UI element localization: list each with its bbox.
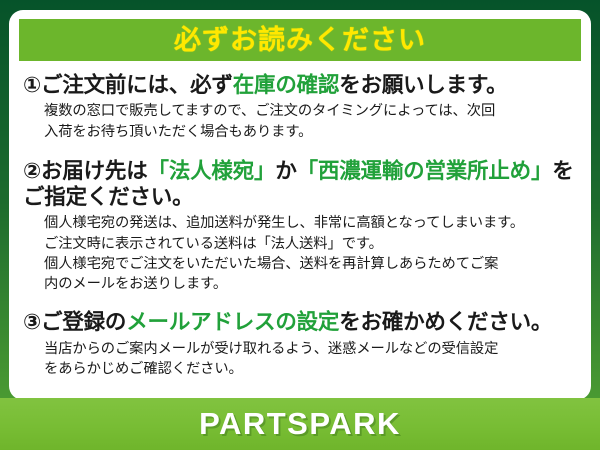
notice-item-2-marker: ② [23,159,41,183]
notice-item-3-body-line-1: 当店からのご案内メールが受け取れるよう、迷惑メールなどの受信設定 [44,339,577,359]
notice-item-2-heading-part-1: お届け先は [41,159,148,183]
notice-item-list: ①ご注文前には、必ず在庫の確認をお願いします。 複数の窓口で販売してますので、ご… [19,72,581,379]
notice-item-2-heading: ②お届け先は「法人様宛」か「西濃運輸の営業所止め」をご指定ください。 [23,158,577,210]
notice-item-2-heading-highlight-2: 「西濃運輸の営業所止め」 [297,159,553,183]
brand-name: PARTSPARK [199,406,401,442]
notice-title-bar: 必ずお読みください [19,19,581,61]
notice-item-1: ①ご注文前には、必ず在庫の確認をお願いします。 複数の窓口で販売してますので、ご… [23,72,577,142]
notice-item-3-body: 当店からのご案内メールが受け取れるよう、迷惑メールなどの受信設定 をあらかじめご… [23,339,577,380]
notice-item-1-heading-highlight: 在庫の確認 [233,73,340,97]
notice-item-2-body: 個人様宅宛の発送は、追加送料が発生し、非常に高額となってしまいます。 ご注文時に… [23,213,577,294]
page-title: 必ずお読みください [174,27,426,54]
notice-item-3-marker: ③ [23,310,41,334]
brand-footer: PARTSPARK [0,398,600,450]
notice-item-3: ③ご登録のメールアドレスの設定をお確かめください。 当店からのご案内メールが受け… [23,309,577,379]
notice-item-2-heading-part-3: か [275,159,296,183]
notice-item-3-heading: ③ご登録のメールアドレスの設定をお確かめください。 [23,309,577,335]
notice-item-2-heading-highlight-1: 「法人様宛」 [148,159,276,183]
notice-card: 必ずお読みください ①ご注文前には、必ず在庫の確認をお願いします。 複数の窓口で… [9,10,591,400]
notice-item-2: ②お届け先は「法人様宛」か「西濃運輸の営業所止め」をご指定ください。 個人様宅宛… [23,158,577,295]
notice-frame: 必ずお読みください ①ご注文前には、必ず在庫の確認をお願いします。 複数の窓口で… [0,0,600,450]
notice-item-3-heading-highlight: メールアドレスの設定 [126,310,339,334]
notice-item-1-heading: ①ご注文前には、必ず在庫の確認をお願いします。 [23,72,577,98]
notice-item-1-heading-part-1: ご注文前には、必ず [41,73,233,97]
notice-item-2-body-line-3: 個人様宅宛でご注文をいただいた場合、送料を再計算しあらためてご案 [44,254,577,274]
notice-item-2-body-line-2: ご注文時に表示されている送料は「法人送料」です。 [44,234,577,254]
notice-item-2-body-line-4: 内のメールをお送りします。 [44,274,577,294]
notice-item-3-heading-part-3: をお確かめください。 [339,310,552,334]
notice-item-3-heading-part-1: ご登録の [41,310,126,334]
notice-item-1-heading-part-3: をお願いします。 [339,73,507,97]
notice-item-1-body-line-2: 入荷をお待ち頂いただく場合もあります。 [44,122,577,142]
notice-item-2-body-line-1: 個人様宅宛の発送は、追加送料が発生し、非常に高額となってしまいます。 [44,213,577,233]
notice-item-1-marker: ① [23,73,41,97]
notice-item-1-body: 複数の窓口で販売してますので、ご注文のタイミングによっては、次回 入荷をお待ち頂… [23,101,577,142]
notice-item-1-body-line-1: 複数の窓口で販売してますので、ご注文のタイミングによっては、次回 [44,101,577,121]
notice-item-3-body-line-2: をあらかじめご確認ください。 [44,359,577,379]
